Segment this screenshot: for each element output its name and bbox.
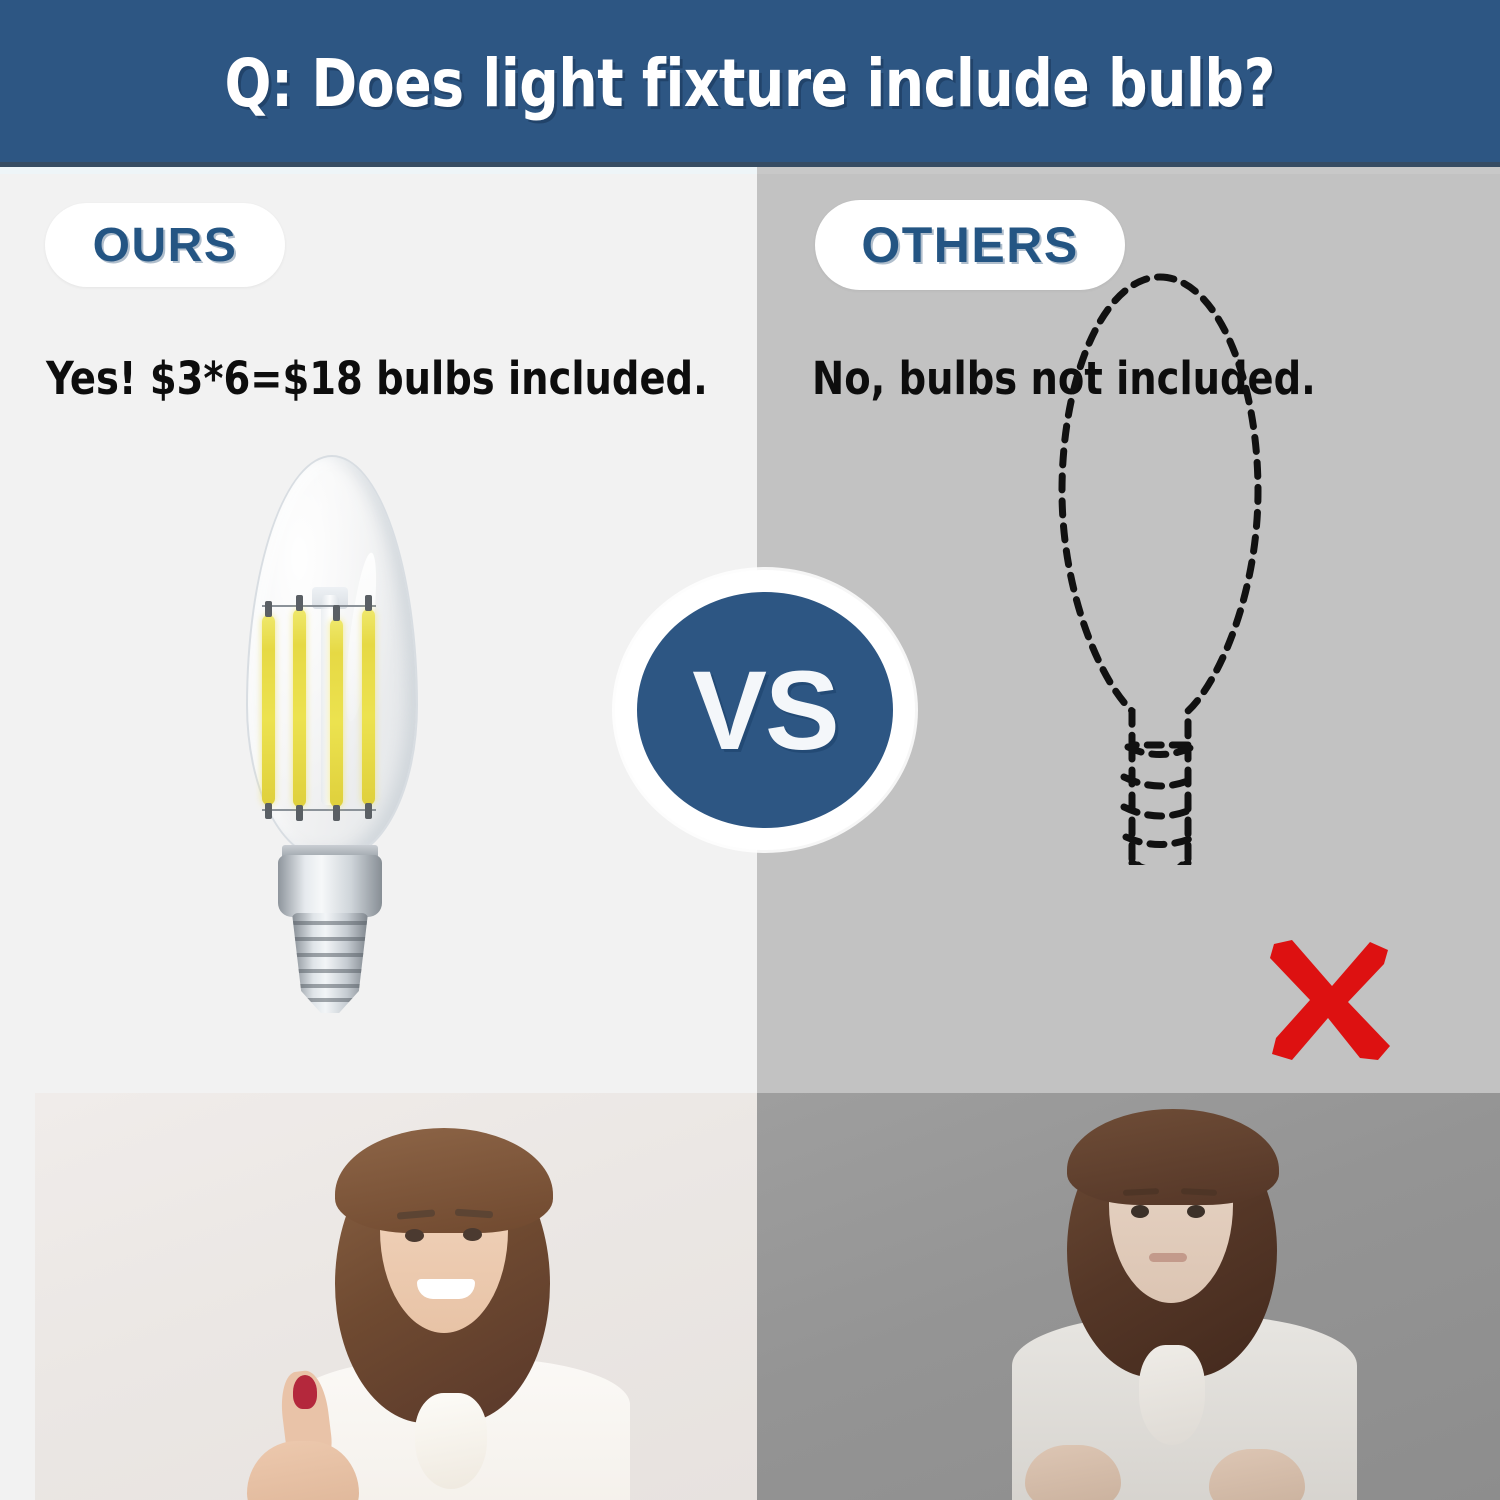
bulb-wire-top xyxy=(262,605,376,607)
bulb-screw-base xyxy=(292,913,368,1013)
page-title: Q: Does light fixture include bulb? xyxy=(225,45,1276,122)
header-banner: Q: Does light fixture include bulb? xyxy=(0,0,1500,167)
badge-ours: OURS xyxy=(45,203,285,287)
red-cross-icon xyxy=(1262,938,1397,1063)
panel-ours-top-strip xyxy=(0,167,757,174)
panel-others-top-strip xyxy=(757,167,1500,174)
comparison-infographic: Q: Does light fixture include bulb? OURS… xyxy=(0,0,1500,1500)
dashed-empty-bulb-outline-icon xyxy=(1020,265,1300,865)
bulb-filament xyxy=(293,609,306,807)
bulb-filament xyxy=(262,615,275,805)
vs-badge: VS xyxy=(615,570,915,850)
vs-label: VS xyxy=(692,646,837,775)
bulb-filament xyxy=(362,609,375,805)
disappointed-woman-shrug-photo xyxy=(757,1093,1500,1500)
badge-ours-label: OURS xyxy=(93,218,238,273)
bulb-collar xyxy=(278,855,382,917)
bulb-filament xyxy=(330,619,343,807)
claim-ours: Yes! $3*6=$18 bulbs included. xyxy=(46,352,708,405)
bulb-wire-bottom xyxy=(262,809,376,811)
happy-woman-thumbs-up-photo xyxy=(35,1093,757,1500)
led-filament-candle-bulb-icon xyxy=(200,447,460,1047)
